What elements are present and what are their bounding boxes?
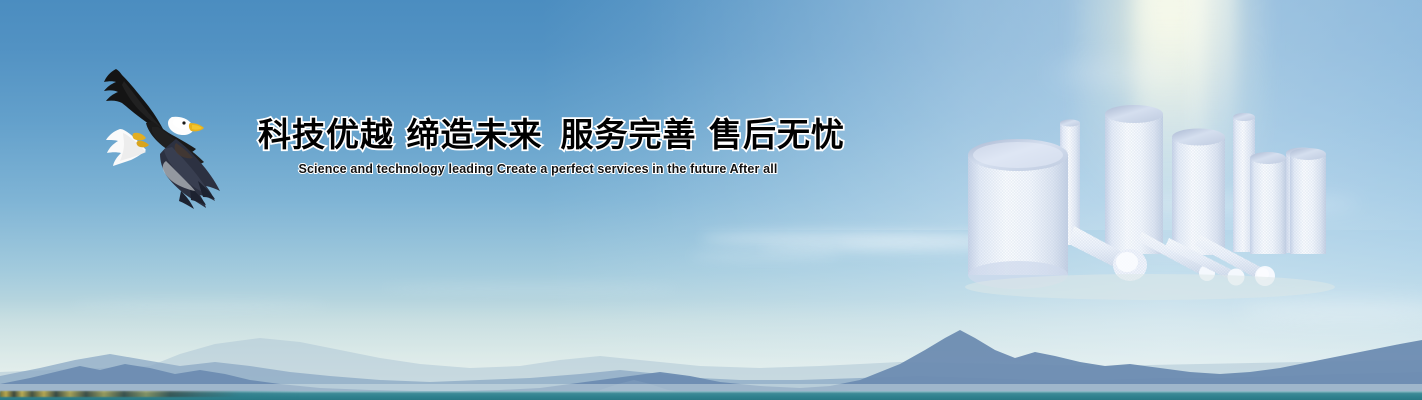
hero-banner: 科技优越 缔造未来服务完善 售后无忧 Science and technolog… [0, 0, 1422, 400]
cloud-wisp [690, 252, 840, 260]
filter-cartridge-tall-center [1105, 105, 1163, 254]
filter-cartridge-medium-center-right [1172, 129, 1225, 256]
filter-cartridge-products-image [950, 95, 1350, 300]
shoreline-specks [0, 391, 300, 397]
bald-eagle-icon [80, 55, 235, 220]
filter-cartridge-large-front-left [968, 139, 1068, 289]
cloud-wisp [1050, 60, 1180, 86]
filter-cartridge-right-front-b [1290, 148, 1326, 254]
banner-subtitle: Science and technology leading Create a … [258, 162, 818, 176]
banner-headline: 科技优越 缔造未来服务完善 售后无忧 [258, 112, 818, 158]
headline-phrase-2: 服务完善 售后无忧 [561, 115, 846, 154]
filter-cartridge-right-front-a [1250, 152, 1286, 254]
headline-phrase-1: 科技优越 缔造未来 [258, 115, 543, 154]
banner-text-block: 科技优越 缔造未来服务完善 售后无忧 Science and technolog… [258, 112, 818, 176]
